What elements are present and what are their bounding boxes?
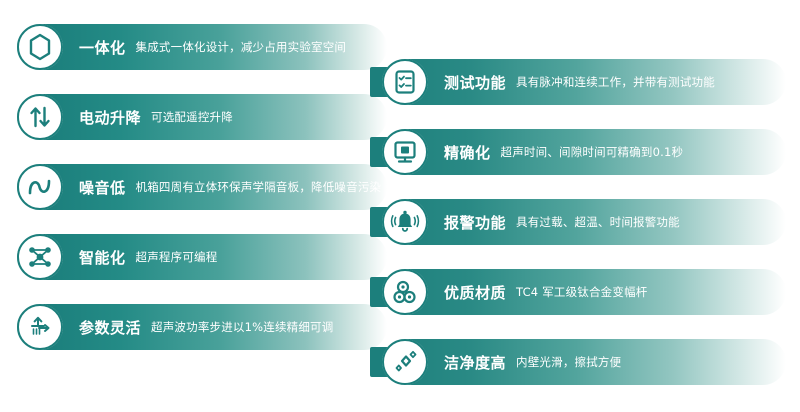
sine-wave-icon [17,164,63,210]
feature-desc: 具有过载、超温、时间报警功能 [516,214,680,230]
hexagon-icon [17,24,63,70]
feature-labels: 智能化 超声程序可编程 [79,234,217,280]
alarm-bell-icon [382,199,428,245]
feature-title: 洁净度高 [444,352,506,373]
feature-labels: 优质材质 TC4 军工级钛合金变幅杆 [444,269,647,315]
feature-labels: 噪音低 机箱四周有立体环保声学隔音板，降低噪音污染 [79,164,381,210]
feature-title: 电动升降 [79,107,141,128]
feature-title: 报警功能 [444,212,506,233]
feature-desc: 超声波功率步进以1%连续精细可调 [151,319,333,335]
feature-labels: 参数灵活 超声波功率步进以1%连续精细可调 [79,304,333,350]
feature-desc: 超声程序可编程 [136,249,218,265]
material-spheres-icon [382,269,428,315]
feature-labels: 测试功能 具有脉冲和连续工作，并带有测试功能 [444,59,715,105]
feature-title: 智能化 [79,247,126,268]
monitor-display-icon [382,129,428,175]
feature-labels: 电动升降 可选配遥控升降 [79,94,233,140]
feature-desc: 可选配遥控升降 [151,109,233,125]
feature-labels: 报警功能 具有过载、超温、时间报警功能 [444,199,680,245]
feature-desc: 集成式一体化设计，减少占用实验室空间 [136,39,347,55]
sparkle-clean-icon [382,339,428,385]
feature-title: 参数灵活 [79,317,141,338]
feature-title: 一体化 [79,37,126,58]
feature-desc: TC4 军工级钛合金变幅杆 [516,284,647,300]
feature-desc: 具有脉冲和连续工作，并带有测试功能 [516,74,715,90]
feature-desc: 内壁光滑，擦拭方便 [516,354,621,370]
feature-title: 优质材质 [444,282,506,303]
feature-title: 测试功能 [444,72,506,93]
power-adjust-icon [17,304,63,350]
feature-labels: 精确化 超声时间、间隙时间可精确到0.1秒 [444,129,683,175]
network-nodes-icon [17,234,63,280]
feature-desc: 机箱四周有立体环保声学隔音板，降低噪音污染 [136,179,382,195]
up-down-arrows-icon [17,94,63,140]
feature-labels: 一体化 集成式一体化设计，减少占用实验室空间 [79,24,346,70]
feature-title: 噪音低 [79,177,126,198]
feature-list-infographic: 一体化 集成式一体化设计，减少占用实验室空间 电动升降 可选配遥控升降 噪音低 [0,0,800,412]
feature-desc: 超声时间、间隙时间可精确到0.1秒 [501,144,684,160]
clipboard-checklist-icon [382,59,428,105]
feature-labels: 洁净度高 内壁光滑，擦拭方便 [444,339,621,385]
feature-title: 精确化 [444,142,491,163]
